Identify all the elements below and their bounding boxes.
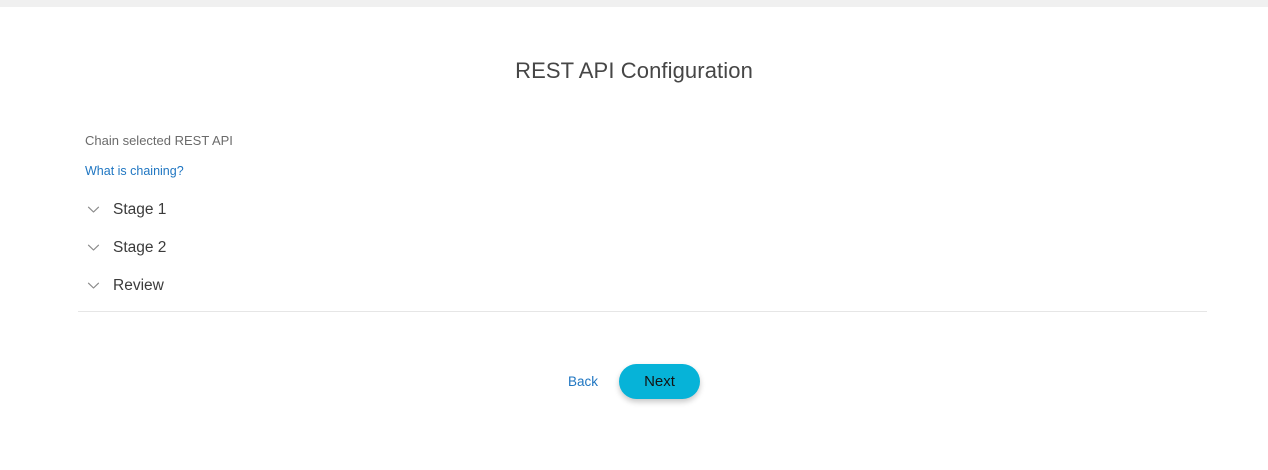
content-divider: [78, 311, 1207, 312]
accordion-item-label: Review: [113, 276, 164, 295]
accordion-item-label: Stage 1: [113, 200, 166, 219]
accordion-item-label: Stage 2: [113, 238, 166, 257]
back-button[interactable]: Back: [568, 374, 598, 389]
stages-accordion: Stage 1 Stage 2 Review: [78, 190, 1207, 304]
accordion-item-stage-1[interactable]: Stage 1: [78, 190, 1207, 228]
page-title: REST API Configuration: [0, 58, 1268, 84]
what-is-chaining-link[interactable]: What is chaining?: [78, 164, 184, 179]
window-chrome-strip: [0, 0, 1268, 7]
accordion-item-review[interactable]: Review: [78, 266, 1207, 304]
main-content: Chain selected REST API What is chaining…: [78, 133, 1207, 312]
rest-api-configuration-page: REST API Configuration Chain selected RE…: [0, 7, 1268, 470]
chevron-down-icon: [85, 201, 102, 218]
chevron-down-icon: [85, 277, 102, 294]
section-caption: Chain selected REST API: [78, 133, 1207, 149]
wizard-footer-actions: Back Next: [0, 364, 1268, 399]
next-button[interactable]: Next: [619, 364, 700, 399]
accordion-item-stage-2[interactable]: Stage 2: [78, 228, 1207, 266]
chevron-down-icon: [85, 239, 102, 256]
